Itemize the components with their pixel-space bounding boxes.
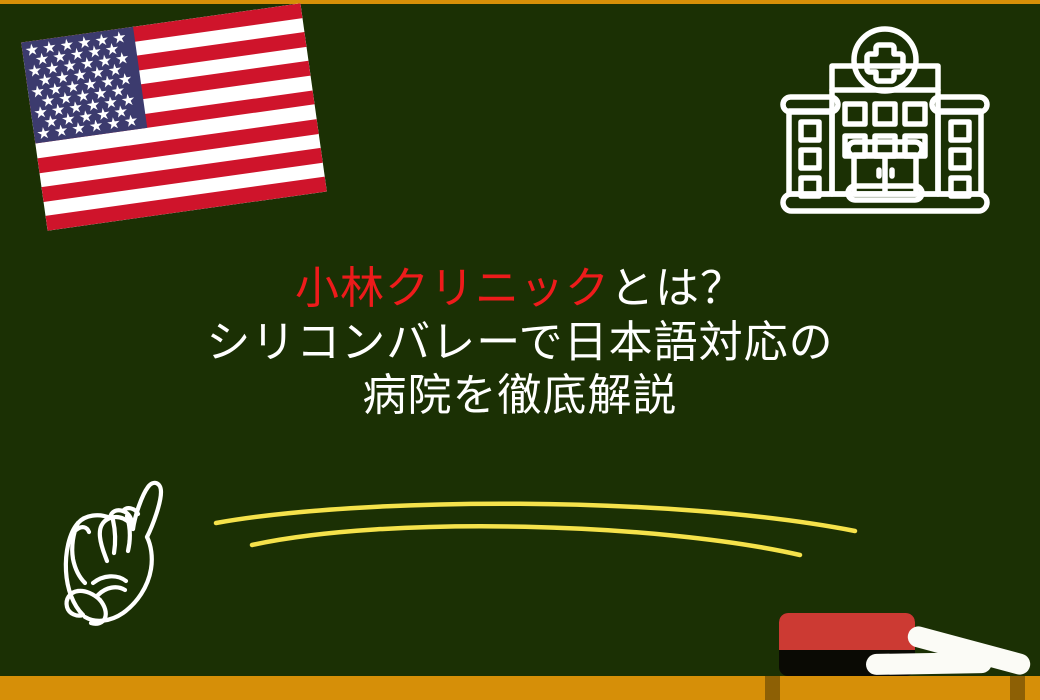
flag-star — [48, 82, 63, 97]
flag-star — [55, 70, 70, 85]
flag-star — [52, 49, 67, 64]
title-clinic-name: 小林クリニック — [295, 263, 610, 314]
eraser-felt-top — [779, 613, 915, 650]
flag-star — [44, 114, 59, 129]
flag-star — [70, 47, 85, 62]
flag-star — [90, 65, 105, 80]
flag-star — [83, 77, 98, 92]
flag-star — [63, 59, 78, 74]
flag-star — [115, 51, 130, 66]
flag-star — [87, 45, 102, 60]
flag-star — [105, 42, 120, 57]
flag-star — [31, 84, 46, 99]
flag-star — [111, 84, 126, 99]
flag-star — [80, 56, 95, 71]
flag-star — [25, 43, 40, 58]
us-flag — [21, 3, 327, 230]
flag-star — [42, 40, 57, 55]
flag-star — [77, 35, 92, 50]
flag-star — [76, 89, 91, 104]
flag-star — [96, 107, 111, 122]
yellow-underline-arcs — [200, 495, 880, 567]
flag-star — [45, 61, 60, 76]
flag-star — [73, 68, 88, 83]
chalk-ledge — [0, 676, 1040, 700]
hospital-building-icon — [775, 18, 995, 218]
flag-star — [114, 105, 129, 120]
us-flag-field — [21, 3, 327, 230]
flag-star — [121, 93, 136, 108]
flag-star — [93, 86, 108, 101]
flag-star — [71, 121, 86, 136]
flag-star — [118, 72, 133, 87]
page-title: 小林クリニックとは？ シリコンバレーで日本語対応の 病院を徹底解説 — [0, 262, 1040, 423]
flag-star — [79, 109, 94, 124]
us-flag-canton — [21, 27, 147, 144]
ledge-divider — [1010, 676, 1025, 700]
flag-star — [41, 94, 56, 109]
title-line-2: シリコンバレーで日本語対応の — [0, 316, 1040, 370]
flag-star — [124, 114, 139, 129]
title-line-1: 小林クリニックとは？ — [0, 262, 1040, 316]
flag-star — [33, 105, 48, 120]
title-line-3: 病院を徹底解説 — [0, 369, 1040, 423]
medical-cross-glyph — [867, 45, 903, 81]
title-line-1-rest: とは？ — [610, 263, 745, 314]
flag-star — [68, 100, 83, 115]
chalk-stick — [866, 652, 992, 675]
flag-star — [36, 126, 51, 141]
flag-star — [89, 119, 104, 134]
flag-star — [95, 33, 110, 48]
chalkboard-title-card: 小林クリニックとは？ シリコンバレーで日本語対応の 病院を徹底解説 — [0, 0, 1040, 700]
flag-star — [106, 116, 121, 131]
flag-star — [98, 54, 113, 69]
pointing-hand-icon — [47, 475, 192, 645]
flag-star — [54, 124, 69, 139]
flag-star — [58, 91, 73, 106]
flag-star — [35, 52, 50, 67]
flag-star — [112, 30, 127, 45]
flag-star — [103, 95, 118, 110]
flag-star — [65, 79, 80, 94]
flag-star — [108, 63, 123, 78]
flag-star — [38, 73, 53, 88]
ledge-divider — [765, 676, 780, 700]
flag-star — [61, 112, 76, 127]
underline-arc-2 — [252, 526, 800, 555]
flag-star — [100, 75, 115, 90]
flag-star — [60, 38, 75, 53]
flag-star — [28, 64, 43, 79]
flag-star — [51, 103, 66, 118]
flag-star — [86, 98, 101, 113]
